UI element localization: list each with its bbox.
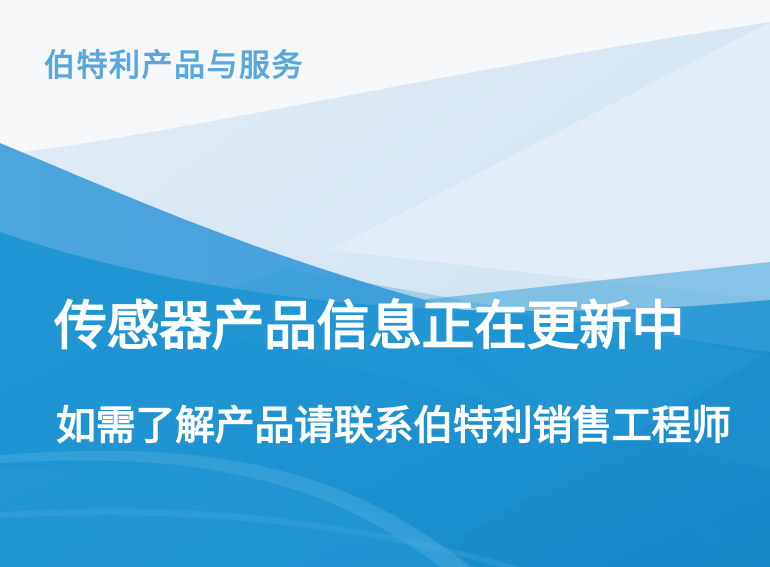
product-service-banner: 伯特利产品与服务 传感器产品信息正在更新中 如需了解产品请联系伯特利销售工程师 — [0, 0, 770, 567]
subheadline-text: 如需了解产品请联系伯特利销售工程师 — [56, 404, 731, 449]
headline-text: 传感器产品信息正在更新中 — [54, 297, 684, 356]
banner-text-layer: 伯特利产品与服务 传感器产品信息正在更新中 如需了解产品请联系伯特利销售工程师 — [0, 0, 770, 567]
brand-title: 伯特利产品与服务 — [44, 48, 304, 84]
